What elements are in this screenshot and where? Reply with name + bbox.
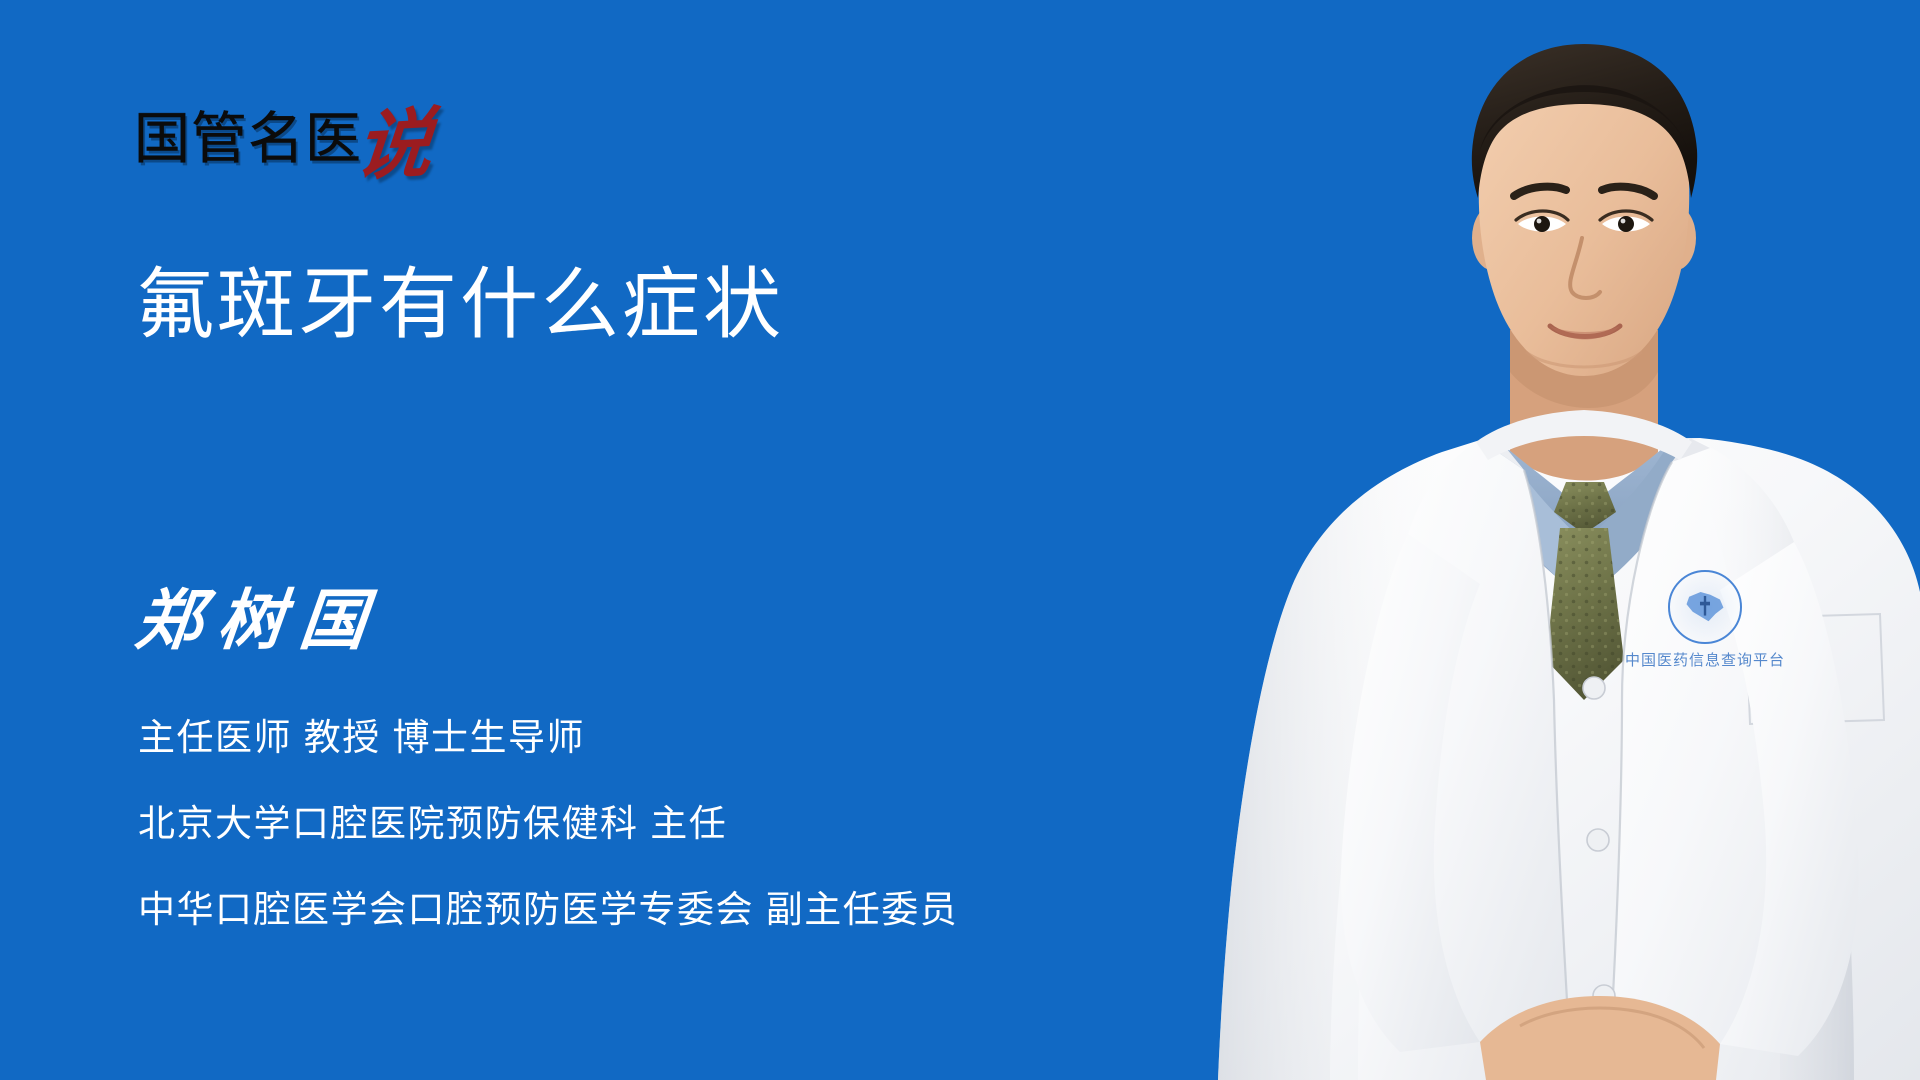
credential-line-3: 中华口腔医学会口腔预防医学专委会 副主任委员 <box>138 888 958 932</box>
doctor-credentials: 主任医师 教授 博士生导师 北京大学口腔医院预防保健科 主任 中华口腔医学会口腔… <box>138 716 958 932</box>
doctor-name: 郑树国 <box>132 578 387 662</box>
slide-canvas: 中国医药信息查询平台 国管名医 说 氟斑牙有什么症状 郑树国 主任医师 教授 博… <box>0 0 1920 1080</box>
brand-logo-accent-text: 说 <box>353 112 435 178</box>
brand-logo-main-text: 国管名医 <box>134 110 362 170</box>
credential-line-2: 北京大学口腔医院预防保健科 主任 <box>138 802 958 846</box>
page-title: 氟斑牙有什么症状 <box>136 258 784 350</box>
info-panel: 国管名医 说 氟斑牙有什么症状 郑树国 主任医师 教授 博士生导师 北京大学口腔… <box>0 0 1230 1080</box>
doctor-portrait <box>1180 0 1920 1080</box>
credential-line-1: 主任医师 教授 博士生导师 <box>138 716 958 760</box>
brand-logo: 国管名医 说 <box>134 88 432 170</box>
